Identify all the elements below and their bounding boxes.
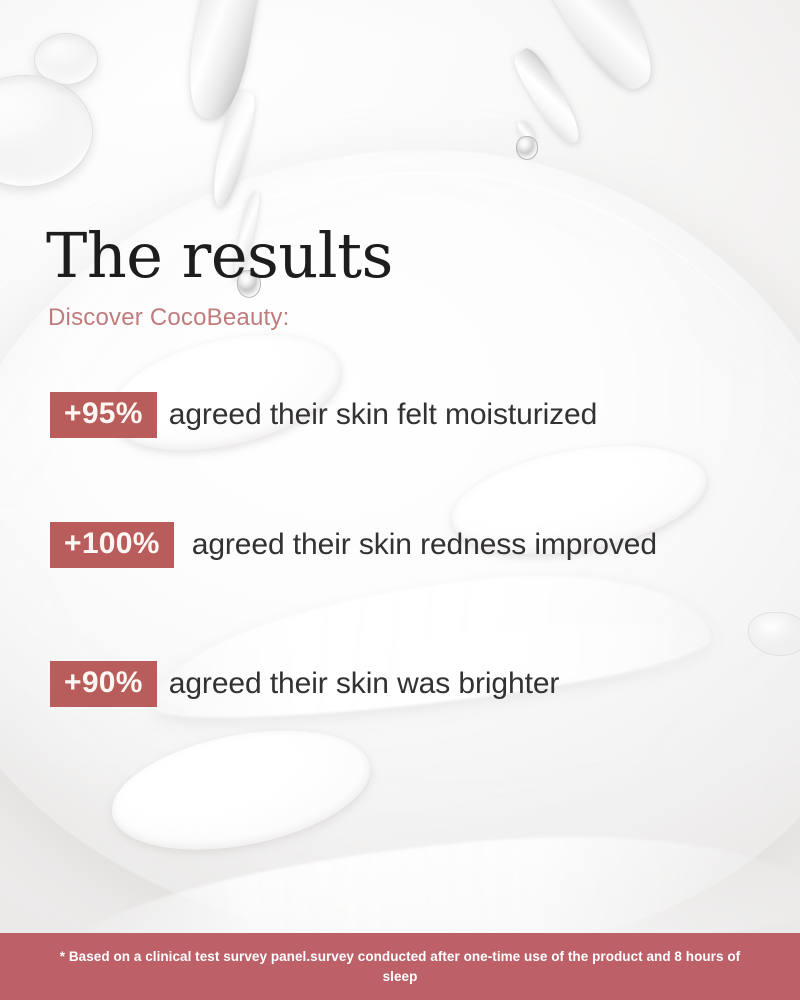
promo-graphic: The results Discover CocoBeauty: +95% ag…	[0, 0, 800, 1000]
stat-row-moisturized: +95% agreed their skin felt moisturized	[50, 392, 597, 438]
status-badge: +90%	[50, 661, 157, 707]
stat-claim-label: agreed their skin felt moisturized	[169, 398, 597, 432]
stat-row-brightness: +90% agreed their skin was brighter	[50, 661, 559, 707]
stat-claim-label: agreed their skin redness improved	[192, 528, 657, 562]
status-badge: +100%	[50, 522, 174, 568]
footnote-text: * Based on a clinical test survey panel.…	[50, 947, 750, 986]
status-badge: +95%	[50, 392, 157, 438]
subtitle: Discover CocoBeauty:	[48, 304, 289, 332]
stat-row-redness: +100% agreed their skin redness improved	[50, 522, 657, 568]
stat-claim-label: agreed their skin was brighter	[169, 667, 560, 701]
content-layer: The results Discover CocoBeauty: +95% ag…	[0, 0, 800, 1000]
footnote-band: * Based on a clinical test survey panel.…	[0, 933, 800, 1000]
page-title: The results	[46, 225, 393, 287]
